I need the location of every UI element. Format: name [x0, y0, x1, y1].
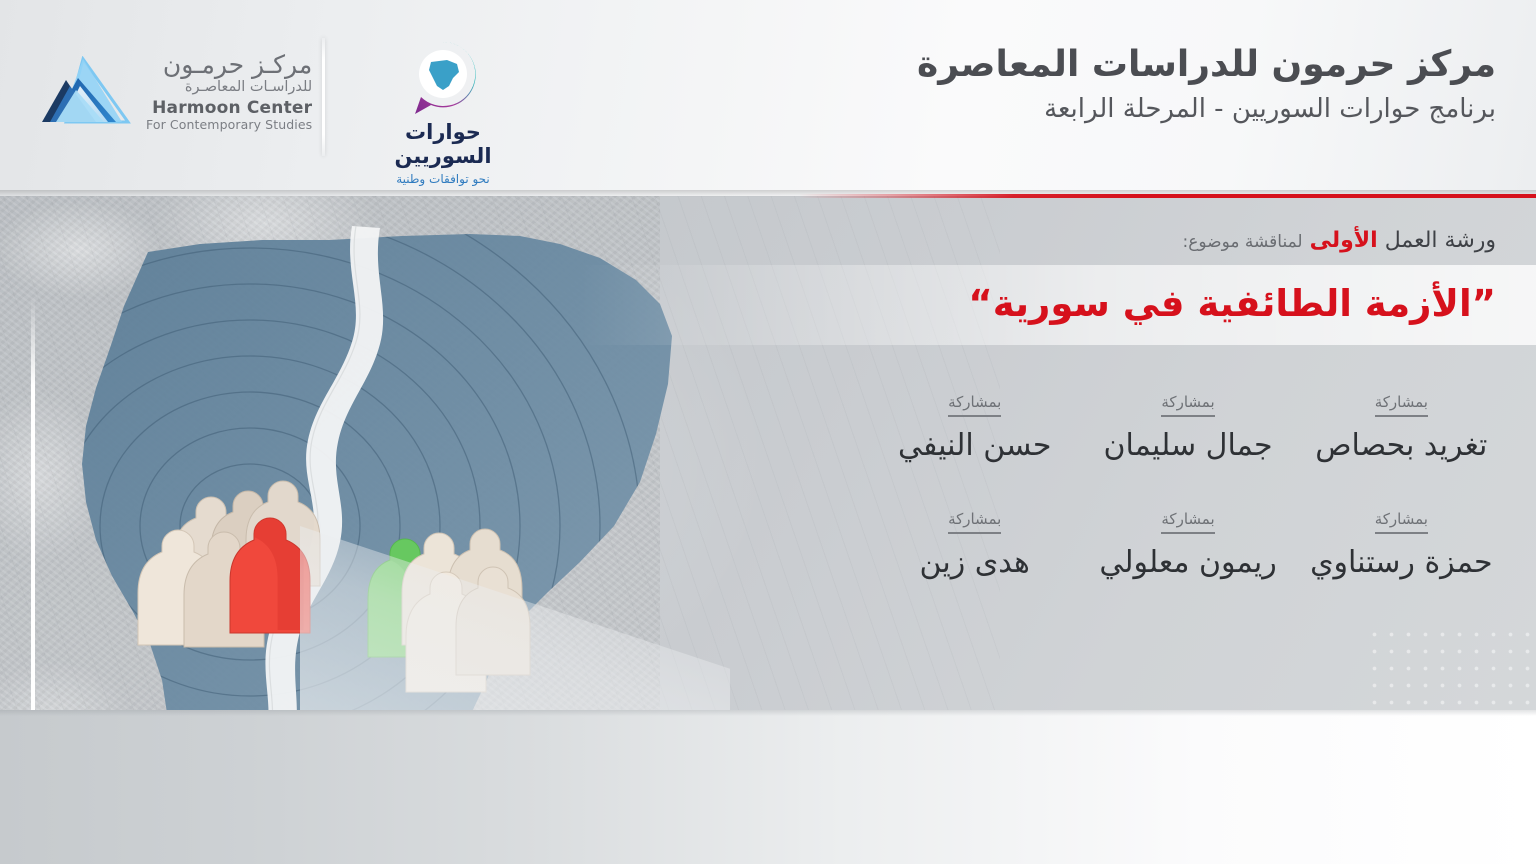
participant-cell: بمشاركة حسن النيفي: [868, 392, 1081, 463]
participant-name: حمزة رستناوي: [1295, 545, 1508, 580]
participant-cell: بمشاركة هدى زين: [868, 509, 1081, 580]
participant-name: حسن النيفي: [868, 428, 1081, 463]
participant-cell: بمشاركة حمزة رستناوي: [1295, 509, 1508, 580]
hiwarat-tagline: نحو توافقات وطنية: [364, 172, 522, 186]
harmoon-english-name: Harmoon Center: [146, 100, 312, 117]
participant-label: بمشاركة: [1375, 395, 1428, 417]
harmoon-english-sub: For Contemporary Studies: [146, 119, 312, 132]
logo-divider: [322, 38, 325, 156]
participant-cell: بمشاركة ريمون معلولي: [1081, 509, 1294, 580]
workshop-ordinal: الأولى: [1310, 228, 1378, 253]
organization-title: مركز حرمون للدراسات المعاصرة: [917, 44, 1496, 85]
poster-header: مركـز حرمـون للدراسـات المعاصـرة Harmoon…: [0, 0, 1536, 196]
participant-label: بمشاركة: [1161, 512, 1214, 534]
footer-top-shade: [0, 710, 1536, 716]
participant-label: بمشاركة: [948, 512, 1001, 534]
program-title: برنامج حوارات السوريين - المرحلة الرابعة: [917, 95, 1496, 125]
harmoon-arabic-sub: للدراسـات المعاصـرة: [146, 80, 312, 95]
header-red-rule: [0, 194, 1536, 198]
participant-name: جمال سليمان: [1081, 428, 1294, 463]
hiwarat-logo: حوارات السوريين نحو توافقات وطنية: [364, 38, 522, 186]
participant-name: ريمون معلولي: [1081, 545, 1294, 580]
harmoon-logo-text: مركـز حرمـون للدراسـات المعاصـرة Harmoon…: [146, 52, 312, 131]
workshop-subject-line: ورشة العمل الأولى لمناقشة موضوع:: [1182, 228, 1496, 253]
workshop-main-title: ”الأزمة الطائفية في سورية“: [968, 282, 1496, 325]
harmoon-arabic-name: مركـز حرمـون: [146, 52, 312, 77]
participant-cell: بمشاركة تغريد بحصاص: [1295, 392, 1508, 463]
participant-cell: بمشاركة جمال سليمان: [1081, 392, 1294, 463]
harmoon-logo: مركـز حرمـون للدراسـات المعاصـرة Harmoon…: [36, 52, 312, 131]
hiwarat-bubble-wrap: [364, 38, 522, 122]
header-titles: مركز حرمون للدراسات المعاصرة برنامج حوار…: [917, 44, 1496, 125]
participants-grid: بمشاركة تغريد بحصاص بمشاركة جمال سليمان …: [868, 392, 1508, 580]
mountain-logo-icon: [36, 56, 134, 128]
poster-footer: [0, 710, 1536, 864]
hiwarat-arabic-name: حوارات السوريين: [364, 120, 522, 168]
participant-label: بمشاركة: [948, 395, 1001, 417]
participant-name: تغريد بحصاص: [1295, 428, 1508, 463]
participant-label: بمشاركة: [1161, 395, 1214, 417]
workshop-prefix: ورشة العمل: [1385, 228, 1496, 253]
speech-bubble-syria-map-icon: [403, 38, 483, 122]
participant-name: هدى زين: [868, 545, 1081, 580]
participant-label: بمشاركة: [1375, 512, 1428, 534]
poster-root: مركـز حرمـون للدراسـات المعاصـرة Harmoon…: [0, 0, 1536, 864]
workshop-suffix: لمناقشة موضوع:: [1182, 232, 1302, 252]
